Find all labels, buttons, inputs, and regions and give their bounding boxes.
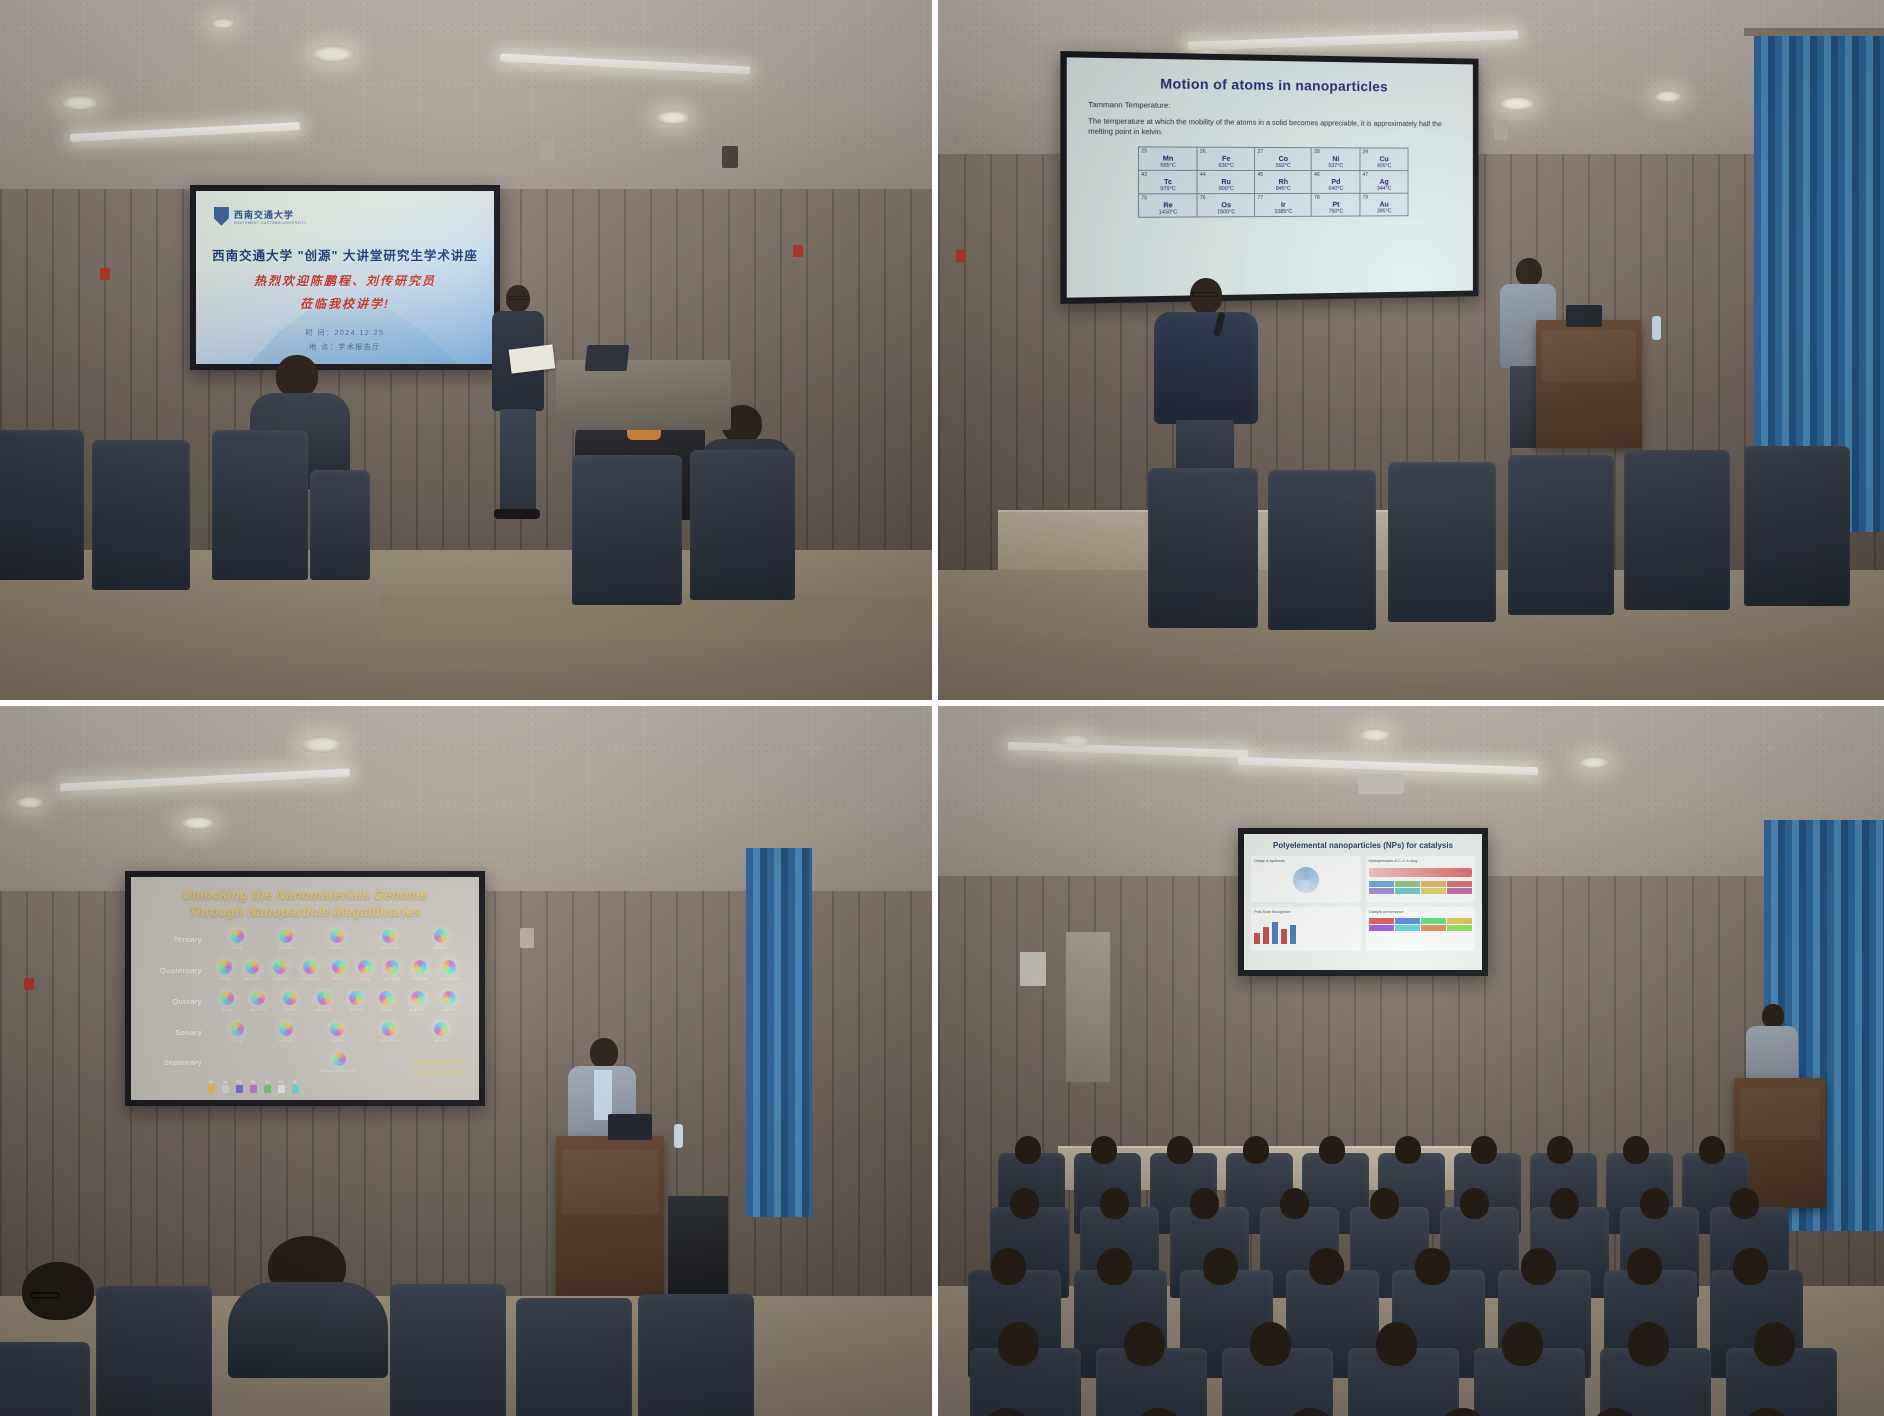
legend-label: Au [209, 1080, 213, 1084]
legend-item: Sn [250, 1080, 257, 1093]
lecture-room-tr: Motion of atoms in nanoparticles Tammann… [938, 0, 1884, 700]
nanoparticle-item: AuAg [379, 991, 393, 1012]
seat [1744, 446, 1850, 606]
nanoparticle-item: AuPdCu [244, 960, 260, 981]
slide-welcome: 西南交通大学 SOUTHWEST JIAOTONG UNIVERSITY 西南交… [196, 191, 494, 364]
nanoparticle-caption: AuAg [220, 976, 231, 981]
nanoparticle-caption: CoNiCuPt [440, 976, 459, 981]
panel-caption: Catalytic performance [1369, 910, 1472, 914]
element-cell: 46Pd640°C [1312, 171, 1361, 194]
logo-text: 西南交通大学 [234, 208, 307, 221]
audience-block [938, 1136, 1884, 1416]
legend-label: Cu [265, 1080, 270, 1084]
welcome-line-2: 莅临我校讲学! [196, 295, 494, 312]
audience-head [1415, 1248, 1449, 1285]
audience-head [998, 1322, 1039, 1366]
audience-head [1376, 1322, 1417, 1366]
glasses-icon [1192, 292, 1218, 297]
exit-sign-icon [24, 978, 34, 990]
nanoparticle-caption: AuAg [231, 945, 242, 950]
nanoparticle-caption: AuPdCu [384, 976, 400, 981]
projection-screen-frame: 西南交通大学 SOUTHWEST JIAOTONG UNIVERSITY 西南交… [190, 185, 500, 370]
welcome-line-1: 热烈欢迎陈鹏程、刘传研究员 [196, 272, 494, 289]
nanoparticle-caption: NiPdPt [434, 1038, 448, 1043]
downlight-icon [1498, 96, 1536, 111]
door-icon [1066, 932, 1110, 1082]
downlight-icon [180, 816, 216, 830]
tammann-temperature: 685°C [1141, 162, 1195, 168]
slide-panel: Hydrogenolysis of C–C in alloy [1366, 856, 1475, 901]
seat [1624, 450, 1730, 610]
nanoparticle-icon [440, 957, 459, 976]
audience-head [1015, 1136, 1041, 1164]
bar-chart [1254, 918, 1357, 944]
legend-item: Pd [236, 1080, 243, 1093]
nanoparticle-item: NiPdPt [434, 1022, 448, 1043]
nanoparticle-item: AuPdCu [278, 1022, 294, 1043]
projector-icon [1358, 774, 1404, 794]
nanoparticle-icon [328, 927, 345, 944]
legend-swatch [236, 1085, 243, 1093]
audience-head [1395, 1136, 1421, 1164]
exit-sign-icon [793, 245, 803, 257]
nanoparticle-icon [230, 929, 244, 943]
laptop-icon [585, 345, 630, 371]
photo-collage: 西南交通大学 SOUTHWEST JIAOTONG UNIVERSITY 西南交… [0, 0, 1884, 1416]
wall-speaker-icon [540, 140, 555, 160]
slide-motion-of-atoms: Motion of atoms in nanoparticles Tammann… [1067, 57, 1473, 297]
nanoparticle-diagram [1293, 867, 1319, 893]
nanoparticle-icon [220, 991, 234, 1005]
audience-head [1730, 1188, 1759, 1219]
audience-head [1754, 1322, 1795, 1366]
logo-subtitle: SOUTHWEST JIAOTONG UNIVERSITY [234, 221, 307, 225]
nanoparticle-item: AuPdCu [250, 991, 266, 1012]
legend-label: Ni [293, 1080, 296, 1084]
slide-title-line-1: Unlocking the Nanomaterials Genome [131, 886, 479, 904]
projection-screen-frame: Motion of atoms in nanoparticles Tammann… [1060, 51, 1478, 304]
nanoparticle-caption: AuPdCu [278, 1038, 294, 1043]
downlight-icon [300, 736, 344, 753]
nanoparticle-icon [314, 989, 332, 1007]
row-items: AuAgAuPdCuCuPtRuCoNiCuPtNiPdPtAuAgAuPdCu… [212, 960, 465, 981]
nanoparticle-caption: AuAg [359, 976, 370, 981]
slide-lead: Tammann Temperature: [1088, 100, 1453, 113]
nanoparticle-item: CuPtRu [442, 991, 457, 1012]
nanoparticle-item: CuPtRu [273, 960, 288, 981]
nanoparticle-item: CoNiCuPt [379, 929, 398, 950]
podium [556, 1136, 664, 1298]
nanoparticle-icon [431, 1019, 450, 1038]
seat [92, 440, 190, 590]
row-label: Quinary [145, 997, 212, 1006]
legend-swatch [278, 1085, 285, 1093]
row-label: Senary [145, 1028, 212, 1037]
megalibrary-row: QuinaryAuAgAuPdCuCuPtRuCoNiCuPtNiPdPtAuA… [145, 986, 465, 1017]
nanoparticle-item: AuAgCuCoNiPdPt [321, 1052, 356, 1073]
nanoparticle-caption: AuPdCu [410, 1007, 426, 1012]
nanoparticle-item: NiPdPt [349, 991, 363, 1012]
audience-head [1471, 1136, 1497, 1164]
megalibrary-row: TernaryAuAgAuPdCuCuPtRuCoNiCuPtNiPdPt [145, 924, 465, 955]
legend-label: Pd [237, 1080, 241, 1084]
event-time: 时 间：2024.12.25 [196, 328, 494, 338]
element-symbol: Rh [1257, 178, 1309, 186]
audience-head [991, 1248, 1025, 1285]
nanoparticle-caption: CuPtRu [412, 976, 427, 981]
legend-label: Co [279, 1080, 284, 1084]
head [276, 355, 318, 397]
nanoparticle-icon [277, 1019, 297, 1039]
slide-title: 西南交通大学 "创源" 大讲堂研究生学术讲座 [196, 245, 494, 264]
lecture-room-br: Polyelemental nanoparticles (NPs) for ca… [938, 706, 1884, 1416]
slide-megalibraries: Unlocking the Nanomaterials Genome Throu… [131, 877, 479, 1100]
projection-screen-frame: Unlocking the Nanomaterials Genome Throu… [125, 871, 485, 1106]
tammann-temperature: 1500°C [1200, 209, 1253, 215]
nanoparticle-caption: CoNiCuPt [379, 1038, 398, 1043]
nanoparticle-caption: NiPdPt [434, 945, 448, 950]
nanoparticle-item: CoNiCuPt [440, 960, 459, 981]
tammann-temperature: 1085°C [1257, 208, 1309, 214]
nanoparticle-icon [379, 990, 394, 1005]
tammann-temperature: 592°C [1257, 163, 1309, 169]
seat [310, 470, 370, 580]
audience-head [1699, 1136, 1725, 1164]
slide-panels: Design & synthesis Hydrogenolysis of C–C… [1251, 856, 1475, 951]
element-cell: 47Ag344°C [1360, 171, 1408, 194]
podium-monitor-icon [608, 1114, 652, 1140]
audience-head [1124, 1322, 1165, 1366]
nanoparticle-item: AuPdCu [410, 991, 426, 1012]
tammann-temperature: 900°C [1200, 186, 1253, 192]
audience-shoulders [228, 1282, 388, 1378]
nanoparticle-caption: CoNiCuPt [300, 976, 319, 981]
legs [500, 409, 536, 513]
nanoparticle-icon [441, 989, 457, 1005]
tammann-temperature: 630°C [1200, 162, 1253, 168]
seat [572, 455, 682, 605]
ceiling-tl [0, 0, 932, 189]
nanoparticle-item: NiPdPt [434, 929, 448, 950]
curtain-rail [1744, 28, 1884, 36]
downlight-icon [1058, 734, 1092, 748]
row-label: Quaternary [145, 966, 212, 975]
legend-item: Ni [292, 1080, 299, 1093]
slide-title: Motion of atoms in nanoparticles [1088, 74, 1453, 95]
element-cell: 77Ir1085°C [1255, 193, 1312, 216]
audience-head [1100, 1188, 1129, 1219]
element-symbol: Fe [1200, 155, 1253, 163]
element-symbol: Cu [1363, 155, 1406, 163]
legend-item: Au [208, 1080, 215, 1093]
panel-caption: Hydrogenolysis of C–C in alloy [1369, 859, 1472, 863]
audience-head [1502, 1322, 1543, 1366]
nanoparticle-item: CoNiCuPt [314, 991, 333, 1012]
element-symbol: Ni [1314, 155, 1358, 163]
legend-swatch [208, 1085, 215, 1093]
water-bottle-icon [674, 1124, 683, 1148]
nanoparticle-icon [281, 989, 298, 1006]
megalibrary-row: SenaryAuAgAuPdCuCuPtRuCoNiCuPtNiPdPt [145, 1017, 465, 1048]
audience-head [1623, 1136, 1649, 1164]
row-items: AuAgAuPdCuCuPtRuCoNiCuPtNiPdPt [212, 929, 465, 950]
element-cell: 29Cu405°C [1360, 148, 1408, 171]
presenter-table [556, 360, 731, 430]
table-row: 43Tc979°C44Ru900°C45Rh845°C46Pd640°C47Ag… [1139, 170, 1408, 193]
glasses-icon [508, 296, 528, 300]
water-bottle-icon [1652, 316, 1661, 340]
tammann-temperature: 344°C [1363, 185, 1406, 191]
nanoparticle-item: CuPtRu [329, 1022, 344, 1043]
nanoparticle-icon [329, 957, 348, 976]
glasses-icon [30, 1292, 60, 1299]
audience-head [1250, 1322, 1291, 1366]
nanoparticle-caption: AuPdCu [278, 945, 294, 950]
slide-attribution: Pengcheng Chen Fudan University [412, 1058, 461, 1077]
nanoparticle-caption: AuAg [381, 1007, 392, 1012]
nanoparticle-caption: NiPdPt [350, 1007, 364, 1012]
nanoparticle-item: CoNiCuPt [300, 960, 319, 981]
nanoparticle-icon [249, 988, 269, 1008]
element-cell: 44Ru900°C [1197, 170, 1255, 193]
seat [1508, 455, 1614, 615]
audience-head [22, 1262, 94, 1320]
element-cell: 79Au395°C [1360, 193, 1408, 216]
slide-polyelemental: Polyelemental nanoparticles (NPs) for ca… [1244, 834, 1482, 970]
composition-grid [1369, 918, 1472, 931]
shield-icon [214, 207, 229, 226]
legend-label: Ag [223, 1080, 227, 1084]
audience-head [1190, 1188, 1219, 1219]
seat [96, 1286, 212, 1416]
head [1762, 1004, 1784, 1028]
element-cell: 43Tc979°C [1139, 170, 1198, 193]
audience-head [1203, 1248, 1237, 1285]
nanoparticle-icon [277, 926, 297, 946]
row-label: Ternary [145, 935, 212, 944]
element-cell: 75Re1450°C [1139, 194, 1198, 218]
panel-bottom-left: Unlocking the Nanomaterials Genome Throu… [0, 706, 938, 1416]
nanoparticle-item: CuPtRu [412, 960, 427, 981]
seat [690, 450, 795, 600]
audience-head [1460, 1188, 1489, 1219]
audience-head [1167, 1136, 1193, 1164]
seat [638, 1294, 754, 1416]
tammann-temperature: 395°C [1363, 208, 1406, 214]
nanoparticle-caption: AuPdCu [250, 1007, 266, 1012]
tammann-temperature-table: 25Mn685°C26Fe630°C27Co592°C28Ni537°C29Cu… [1138, 146, 1408, 217]
panel-caption: Design & synthesis [1254, 859, 1357, 863]
tammann-temperature: 405°C [1363, 163, 1406, 169]
nanoparticle-icon [332, 1052, 346, 1066]
audience-head [1547, 1136, 1573, 1164]
downlight-icon [655, 110, 691, 125]
panel-top-left: 西南交通大学 SOUTHWEST JIAOTONG UNIVERSITY 西南交… [0, 0, 938, 706]
author-name: Pengcheng Chen [412, 1058, 461, 1068]
nanoparticle-icon [243, 957, 263, 977]
nanoparticle-caption: NiPdPt [332, 976, 346, 981]
audience-head [1097, 1248, 1131, 1285]
tammann-temperature: 640°C [1314, 185, 1358, 191]
element-cell: 78Pt750°C [1312, 193, 1361, 216]
nanoparticle-icon [380, 927, 398, 945]
nanoparticle-item: AuAg [230, 1022, 244, 1043]
table-row: 75Re1450°C76Os1500°C77Ir1085°C78Pt750°C7… [1139, 193, 1408, 217]
nanoparticle-icon [218, 960, 232, 974]
wall-speaker-icon [722, 146, 738, 168]
element-cell: 76Os1500°C [1197, 194, 1255, 217]
event-place: 地 点：学术报告厅 [196, 342, 494, 352]
shoes [494, 509, 540, 519]
nanoparticle-caption: AuAg [222, 1007, 233, 1012]
audience-head [1521, 1248, 1555, 1285]
audience-head [1010, 1188, 1039, 1219]
legend-item: Ag [222, 1080, 229, 1093]
wall-speaker-icon [520, 928, 534, 948]
downlight-icon [1578, 756, 1610, 769]
element-cell: 26Fe630°C [1197, 147, 1255, 170]
tammann-temperature: 750°C [1314, 208, 1358, 214]
head [1516, 258, 1542, 286]
nanoparticle-icon [357, 959, 372, 974]
reaction-arrow [1369, 868, 1472, 877]
speaker-standing [484, 285, 546, 535]
lecture-room-tl: 西南交通大学 SOUTHWEST JIAOTONG UNIVERSITY 西南交… [0, 0, 932, 700]
podium-monitor-icon [1566, 305, 1602, 327]
slide-body: The temperature at which the mobility of… [1088, 117, 1453, 139]
nanoparticle-icon [382, 957, 402, 977]
slide-title: Unlocking the Nanomaterials Genome Throu… [131, 886, 479, 921]
nanoparticle-caption: AuAg [231, 1038, 242, 1043]
legend-swatch [250, 1085, 257, 1093]
slide-panel: Catalytic performance [1366, 907, 1475, 951]
nanoparticle-item: CuPtRu [329, 929, 344, 950]
audience-head [1627, 1248, 1661, 1285]
nanoparticle-caption: CoNiCuPt [314, 1007, 333, 1012]
equipment-rack [668, 1196, 728, 1306]
element-symbol: Tc [1141, 178, 1195, 186]
nanoparticle-icon [408, 988, 428, 1008]
seat [1148, 468, 1258, 628]
row-label: Septenary [145, 1058, 212, 1067]
nanoparticle-icon [347, 988, 366, 1007]
slide-panel: Design & synthesis [1251, 856, 1360, 901]
audience-head [1628, 1322, 1669, 1366]
seat [0, 1342, 90, 1416]
audience-head [1640, 1188, 1669, 1219]
audience-head [1370, 1188, 1399, 1219]
tammann-temperature: 537°C [1314, 163, 1358, 169]
megalibrary-row: QuaternaryAuAgAuPdCuCuPtRuCoNiCuPtNiPdPt… [145, 955, 465, 986]
podium [1536, 320, 1642, 448]
head [590, 1038, 618, 1068]
projection-screen: Motion of atoms in nanoparticles Tammann… [1067, 57, 1473, 297]
downlight-icon [310, 45, 356, 63]
nanoparticle-item: AuPdCu [384, 960, 400, 981]
legend-item: Co [278, 1080, 285, 1093]
nanoparticle-item: CuPtRu [283, 991, 298, 1012]
slide-title: Polyelemental nanoparticles (NPs) for ca… [1251, 841, 1475, 850]
table-row: 25Mn685°C26Fe630°C27Co592°C28Ni537°C29Cu… [1139, 147, 1408, 171]
nanoparticle-caption: CuPtRu [442, 1007, 457, 1012]
speaker-with-microphone [1154, 278, 1258, 488]
nanoparticle-icon [380, 1020, 398, 1038]
seat [516, 1298, 632, 1416]
downlight-icon [1653, 90, 1683, 103]
nanoparticle-caption: CoNiCuPt [379, 945, 398, 950]
legend-swatch [264, 1085, 271, 1093]
nanoparticle-caption: CuPtRu [329, 945, 344, 950]
element-cell: 25Mn685°C [1139, 147, 1198, 171]
wall-notice [1020, 952, 1046, 986]
slide-panel: Post-Scan Recognition [1251, 907, 1360, 951]
legend-label: Sn [251, 1080, 255, 1084]
downlight-icon [60, 95, 100, 111]
nanoparticle-icon [328, 1020, 345, 1037]
audience-head [1309, 1248, 1343, 1285]
nanoparticle-icon [431, 926, 450, 945]
element-cell: 28Ni537°C [1312, 148, 1361, 171]
nanoparticle-caption: CuPtRu [283, 1007, 298, 1012]
nanoparticle-caption: AuAgCuCoNiPdPt [321, 1068, 356, 1073]
nanoparticle-item: AuPdCu [278, 929, 294, 950]
panel-bottom-right: Polyelemental nanoparticles (NPs) for ca… [938, 706, 1884, 1416]
seat [390, 1284, 506, 1416]
nanoparticle-item: NiPdPt [332, 960, 346, 981]
nanoparticle-icon [272, 958, 289, 975]
element-symbol: Ru [1200, 178, 1253, 186]
nanoparticle-icon [230, 1022, 244, 1036]
element-cell: 27Co592°C [1255, 147, 1312, 170]
projection-screen-frame: Polyelemental nanoparticles (NPs) for ca… [1238, 828, 1488, 976]
tammann-temperature: 979°C [1141, 186, 1195, 192]
nanoparticle-caption: CuPtRu [273, 976, 288, 981]
audience-head [1091, 1136, 1117, 1164]
nanoparticle-caption: AuPdCu [244, 976, 260, 981]
element-legend: AuAgPdSnCuCoNi [208, 1080, 299, 1093]
element-symbol: Ag [1363, 178, 1406, 185]
exit-sign-icon [100, 268, 110, 280]
heatmap-grid [1369, 881, 1472, 894]
seat [1388, 462, 1496, 622]
legend-swatch [292, 1085, 299, 1093]
audience-head [1319, 1136, 1345, 1164]
seat [212, 430, 308, 580]
legend-swatch [222, 1085, 229, 1093]
projection-screen: 西南交通大学 SOUTHWEST JIAOTONG UNIVERSITY 西南交… [196, 191, 494, 364]
panel-top-right: Motion of atoms in nanoparticles Tammann… [938, 0, 1884, 706]
element-symbol: Pd [1314, 178, 1358, 186]
element-cell: 45Rh845°C [1255, 170, 1312, 193]
projection-screen: Unlocking the Nanomaterials Genome Throu… [131, 877, 479, 1100]
nanoparticle-item: AuAg [220, 991, 234, 1012]
seat [0, 430, 84, 580]
element-symbol: Co [1257, 155, 1309, 163]
wall-speaker-icon [1494, 120, 1508, 140]
audience-head [1550, 1188, 1579, 1219]
row-items: AuAgAuPdCuCuPtRuCoNiCuPtNiPdPtAuAgAuPdCu… [212, 991, 465, 1012]
tammann-temperature: 845°C [1257, 186, 1309, 192]
audience-head [1243, 1136, 1269, 1164]
exit-sign-icon [956, 250, 966, 262]
university-logo: 西南交通大学 SOUTHWEST JIAOTONG UNIVERSITY [214, 207, 307, 226]
puffer-jacket [1154, 312, 1258, 424]
downlight-icon [210, 18, 236, 29]
window-curtain [746, 848, 812, 1217]
downlight-icon [1358, 728, 1392, 742]
downlight-icon [15, 796, 45, 809]
slide-title-line-2: Through Nanoparticle Megalibraries [131, 903, 479, 921]
